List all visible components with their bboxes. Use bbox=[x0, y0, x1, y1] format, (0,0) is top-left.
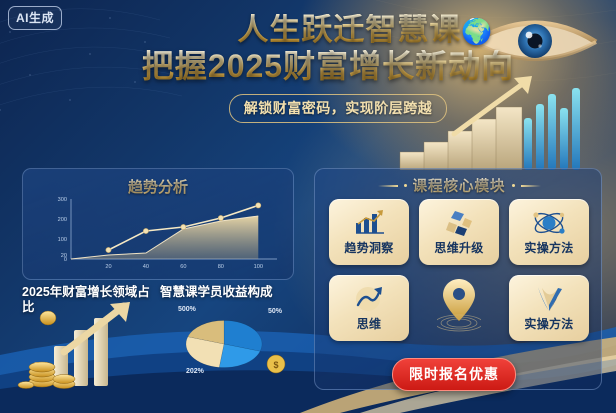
trend-line-chart: 020100200300 20406080100 bbox=[31, 195, 287, 275]
puzzle-shapes-icon bbox=[442, 209, 476, 237]
ribbon-check-icon bbox=[532, 285, 566, 313]
divider-left bbox=[378, 185, 398, 187]
svg-text:100: 100 bbox=[254, 264, 263, 270]
caption-growth-share: 2025年财富增长领域占比 bbox=[22, 285, 150, 315]
svg-text:$: $ bbox=[273, 360, 278, 370]
module-tile-label: 趋势洞察 bbox=[344, 239, 393, 256]
module-tile-practical-method[interactable]: 实操方法 bbox=[509, 199, 589, 265]
svg-text:20: 20 bbox=[61, 253, 67, 259]
module-tile-label: 思维升级 bbox=[434, 239, 483, 256]
caption-income-composition: 智慧课学员收益构成 bbox=[160, 285, 300, 300]
atom-orbit-icon bbox=[532, 209, 566, 237]
growth-arrow-circle-icon bbox=[352, 285, 386, 313]
svg-text:20: 20 bbox=[105, 264, 111, 270]
core-modules-panel: 课程核心模块 趋势洞察 bbox=[314, 168, 602, 390]
title-line-1-text: 人生跃迁智慧课 bbox=[237, 12, 461, 47]
pie-label-1: 50% bbox=[268, 308, 282, 315]
svg-text:100: 100 bbox=[58, 237, 67, 243]
pie-label-2: 202% bbox=[186, 368, 204, 375]
headline-block: 人生跃迁智慧课🌍 把握2025财富增长新动向 解锁财富密码，实现阶层跨越 bbox=[0, 14, 616, 123]
globe-icon: 🌍 bbox=[461, 18, 493, 46]
module-tile-location[interactable] bbox=[419, 275, 499, 341]
svg-text:60: 60 bbox=[180, 264, 186, 270]
module-tile-practical-method-2[interactable]: 实操方法 bbox=[509, 275, 589, 341]
svg-text:80: 80 bbox=[218, 264, 224, 270]
svg-text:40: 40 bbox=[143, 264, 149, 270]
core-modules-title: 课程核心模块 bbox=[413, 175, 506, 196]
location-pin-icon bbox=[437, 277, 481, 337]
svg-text:300: 300 bbox=[58, 197, 67, 203]
module-tiles-grid: 趋势洞察 思维升级 实操方法 bbox=[329, 199, 589, 341]
title-line-2: 把握2025财富增长新动向 bbox=[0, 50, 616, 84]
bar-chart-arrow-icon bbox=[352, 209, 386, 237]
core-modules-header: 课程核心模块 bbox=[315, 175, 603, 196]
pie-label-0: 500% bbox=[178, 306, 196, 313]
dot-right-icon bbox=[512, 184, 515, 187]
ai-generated-badge: AI生成 bbox=[8, 6, 62, 30]
title-line-1: 人生跃迁智慧课🌍 bbox=[0, 14, 616, 47]
subtitle-pill: 解锁财富密码，实现阶层跨越 bbox=[229, 94, 448, 123]
svg-text:200: 200 bbox=[58, 217, 67, 223]
module-tile-mindset-upgrade[interactable]: 思维升级 bbox=[419, 199, 499, 265]
module-tile-mindset[interactable]: 思维 bbox=[329, 275, 409, 341]
module-tile-label: 实操方法 bbox=[524, 239, 573, 256]
trend-panel-title: 趋势分析 bbox=[23, 176, 293, 197]
dot-left-icon bbox=[404, 184, 407, 187]
trend-analysis-panel: 趋势分析 020100200300 20406080100 bbox=[22, 168, 294, 280]
module-tile-trend-insight[interactable]: 趋势洞察 bbox=[329, 199, 409, 265]
cta-enroll-button[interactable]: 限时报名优惠 bbox=[392, 358, 516, 391]
poster-canvas: AI生成 bbox=[0, 0, 616, 413]
module-tile-label: 实操方法 bbox=[524, 315, 573, 332]
divider-right bbox=[521, 185, 541, 187]
module-tile-label: 思维 bbox=[357, 315, 382, 332]
